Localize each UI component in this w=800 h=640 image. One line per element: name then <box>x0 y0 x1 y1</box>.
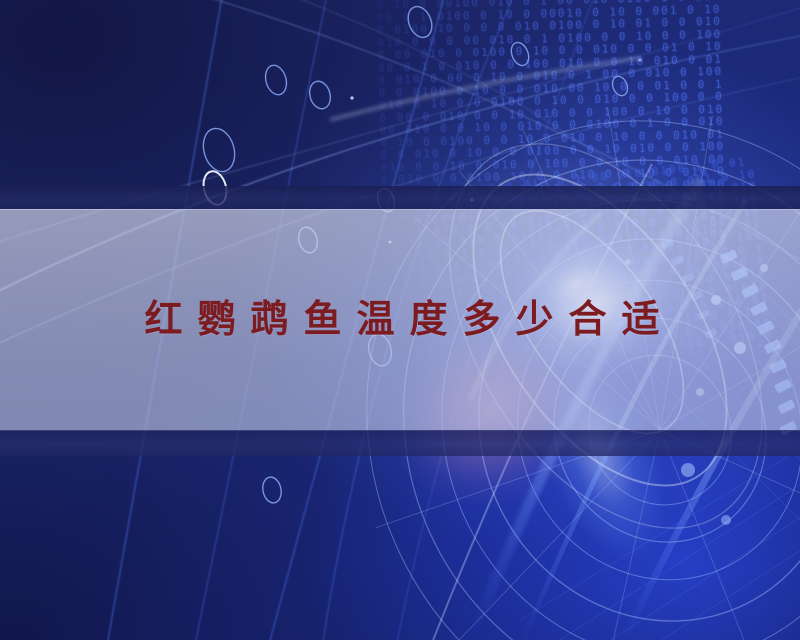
title-container: 红鹦鹉鱼温度多少合适 <box>0 209 800 430</box>
banner-top-bar <box>0 186 800 210</box>
banner-bottom-bar <box>0 430 800 456</box>
page-title: 红鹦鹉鱼温度多少合适 <box>125 301 674 339</box>
banner-canvas: 0 10 0 00100 010 0 1 00 010 0100 1 0 01 … <box>0 0 800 640</box>
